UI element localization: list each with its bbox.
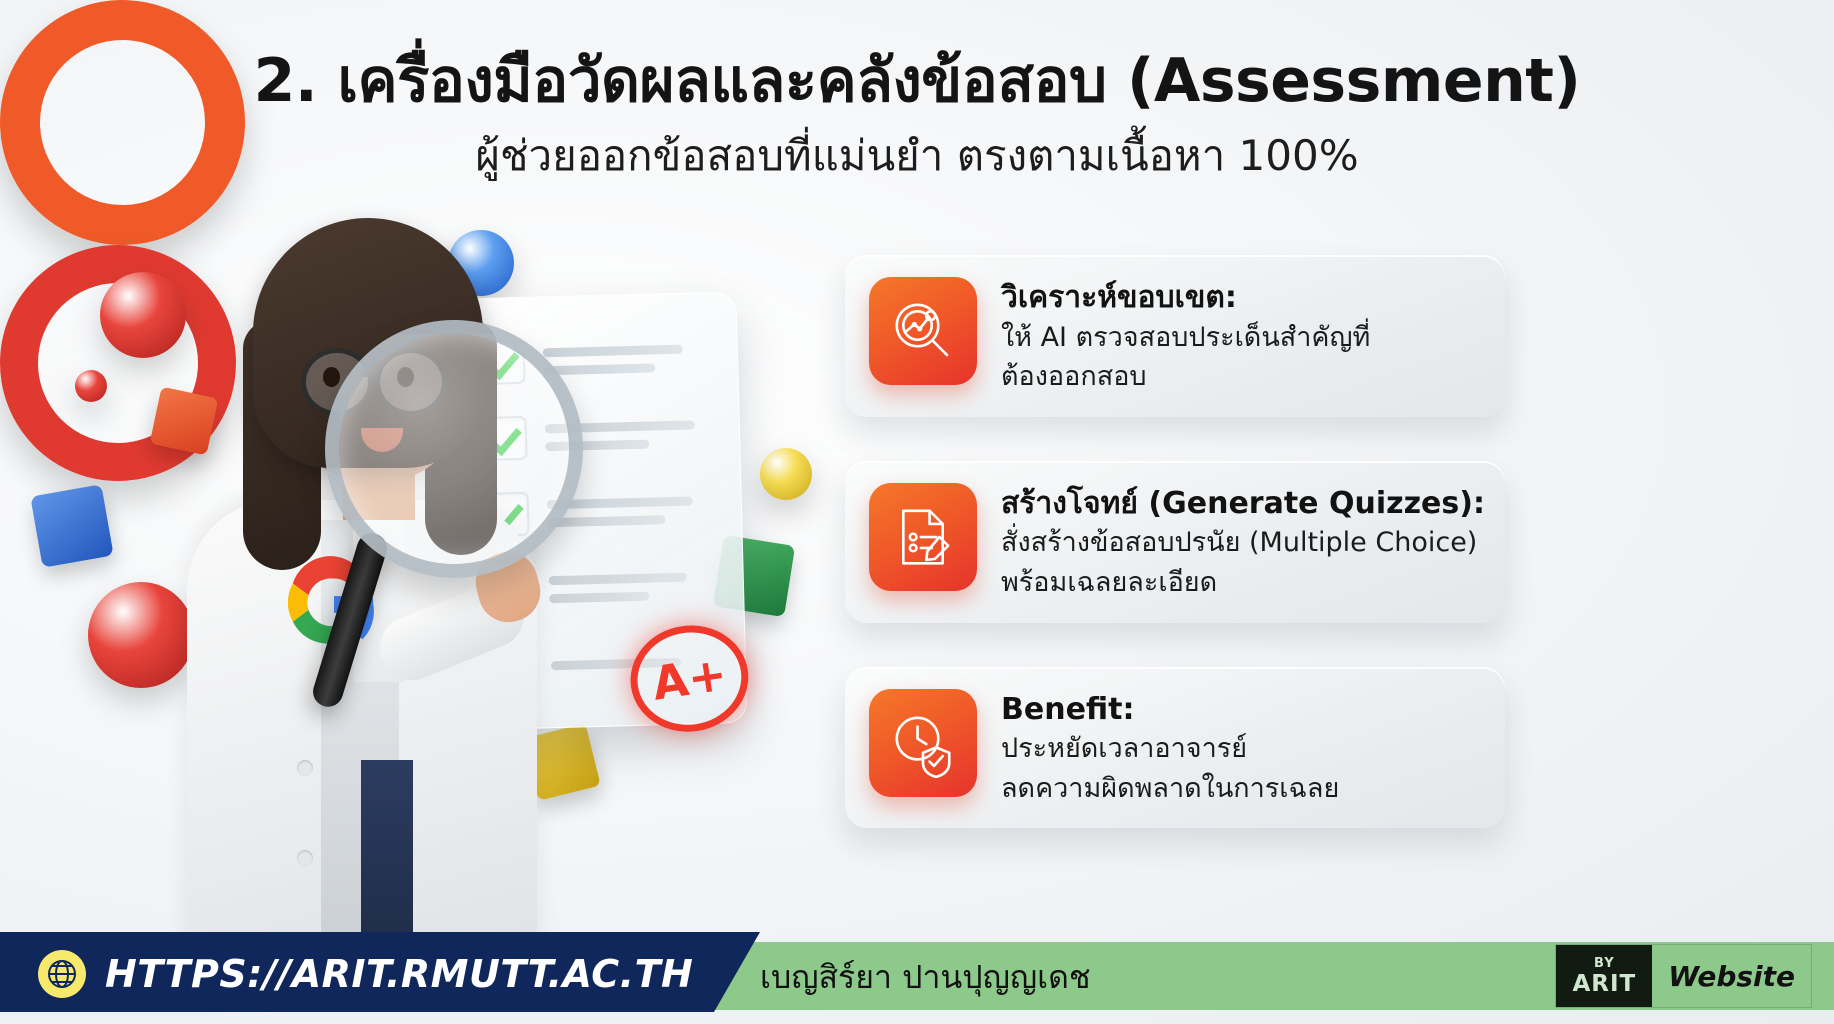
header-block: 2. เครื่องมือวัดผลและคลังข้อสอบ (Assessm… <box>0 48 1834 180</box>
feature-card-text: Benefit: ประหยัดเวลาอาจารย์ ลดความผิดพลา… <box>1001 689 1339 807</box>
card-body-line: พร้อมเฉลยละเอียด <box>1001 565 1485 601</box>
magnifier-analytics-icon <box>869 277 977 385</box>
card-body-line: สั่งสร้างข้อสอบปรนัย (Multiple Choice) <box>1001 525 1485 561</box>
infographic-canvas: 2. เครื่องมือวัดผลและคลังข้อสอบ (Assessm… <box>0 0 1834 1024</box>
author-name: เบญสิร์ยา ปานปุญญเดช <box>760 952 1091 1003</box>
card-body-line: ประหยัดเวลาอาจารย์ <box>1001 731 1339 767</box>
hero-illustration: A+ <box>30 200 850 960</box>
website-url[interactable]: HTTPS://ARIT.RMUTT.AC.TH <box>105 952 693 996</box>
card-body-line: ลดความผิดพลาดในการเฉลย <box>1001 771 1339 807</box>
magnifier-lens <box>325 320 583 578</box>
card-body-line: ให้ AI ตรวจสอบประเด็นสำคัญที่ <box>1001 320 1370 356</box>
badge-by-label: BY <box>1594 957 1615 970</box>
arit-website-badge: BY ARIT Website <box>1555 944 1812 1008</box>
page-subtitle: ผู้ช่วยออกข้อสอบที่แม่นยำ ตรงตามเนื้อหา … <box>0 132 1834 180</box>
feature-card-text: วิเคราะห์ขอบเขต: ให้ AI ตรวจสอบประเด็นสำ… <box>1001 277 1370 395</box>
feature-card-generate-quizzes[interactable]: สร้างโจทย์ (Generate Quizzes): สั่งสร้าง… <box>845 461 1505 623</box>
eye-left <box>323 367 340 387</box>
feature-card-list: วิเคราะห์ขอบเขต: ให้ AI ตรวจสอบประเด็นสำ… <box>845 255 1515 872</box>
card-heading: สร้างโจทย์ (Generate Quizzes): <box>1001 487 1485 522</box>
coat-button <box>297 760 313 776</box>
badge-arit-block: BY ARIT <box>1556 945 1652 1007</box>
clock-shield-icon <box>869 689 977 797</box>
feature-card-analyze-scope[interactable]: วิเคราะห์ขอบเขต: ให้ AI ตรวจสอบประเด็นสำ… <box>845 255 1505 417</box>
feature-card-text: สร้างโจทย์ (Generate Quizzes): สั่งสร้าง… <box>1001 483 1485 601</box>
footer-bar: เบญสิร์ยา ปานปุญญเดช HTTPS://ARIT.RMUTT.… <box>0 928 1834 1024</box>
grade-stamp: A+ <box>623 617 755 739</box>
card-body-line: ต้องออกสอบ <box>1001 359 1370 395</box>
page-title: 2. เครื่องมือวัดผลและคลังข้อสอบ (Assessm… <box>0 48 1834 114</box>
card-heading: วิเคราะห์ขอบเขต: <box>1001 281 1370 316</box>
document-pencil-icon <box>869 483 977 591</box>
feature-card-benefit[interactable]: Benefit: ประหยัดเวลาอาจารย์ ลดความผิดพลา… <box>845 667 1505 829</box>
coat-button <box>297 850 313 866</box>
globe-icon <box>38 950 86 998</box>
badge-website-label: Website <box>1652 945 1811 1007</box>
card-heading: Benefit: <box>1001 693 1339 728</box>
badge-arit-label: ARIT <box>1572 973 1636 996</box>
